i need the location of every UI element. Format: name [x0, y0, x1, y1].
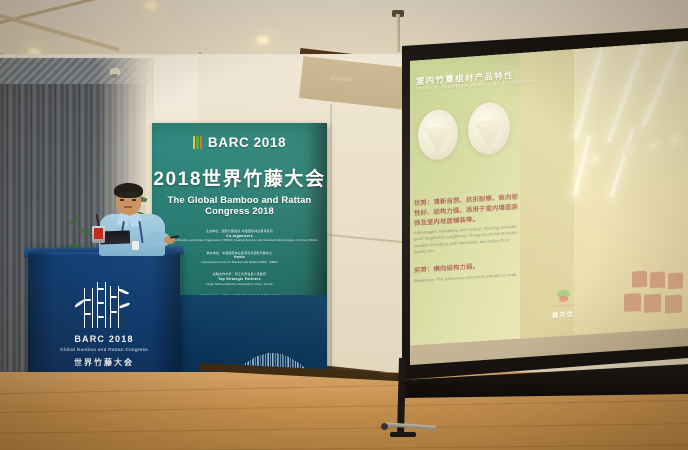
- projected-slide: 室内竹重组材产品特性 Indoor Bamboo Material Proper…: [402, 32, 688, 346]
- bamboo-stalks-icon: [78, 282, 130, 328]
- wall-panel-label: CHINA: [331, 75, 353, 83]
- screen-surface: 室内竹重组材产品特性 Indoor Bamboo Material Proper…: [388, 28, 688, 386]
- slide-advantages-cn: 优势：清新自然、抗折耐寒、板向韧性好、结构力强、适用于室内墙面装饰及室内地面铺装…: [414, 193, 520, 229]
- credit-cn: 主办单位：国际竹藤组织 中国国家林业和草原局: [152, 229, 327, 233]
- wall-seam: [330, 104, 332, 384]
- screen-tripod-knob: [381, 423, 388, 430]
- backdrop-logo: BARC 2018: [152, 135, 327, 150]
- slide-brand-logo: ZHIHUAYOU 植花优: [552, 289, 574, 319]
- ceiling-beam-corner: [0, 12, 120, 52]
- screen-foot: [390, 432, 416, 437]
- presenter-mouth: [124, 206, 132, 208]
- slide-brand-cn: 植花优: [552, 309, 574, 319]
- ceiling-downlight-icon: [143, 0, 159, 11]
- bamboo-stalks-icon: [193, 136, 204, 149]
- slide-advantages-en: Advantages: refreshing and natural, free…: [414, 224, 520, 255]
- conference-hall-photo: CHINA BAMBOO RATTAN BARC 2018: [0, 0, 688, 450]
- podium-logo-text: BARC 2018: [28, 334, 180, 344]
- microphone-flag: [94, 228, 103, 239]
- flower-logo-icon: [555, 289, 572, 303]
- podium-logo: BARC 2018 Global Bamboo and Rattan Congr…: [28, 282, 180, 368]
- presenter-hair: [114, 183, 143, 198]
- presenter-eye: [132, 199, 136, 201]
- slide-body: 优势：清新自然、抗折耐寒、板向韧性好、结构力强、适用于室内墙面装饰及室内地面铺装…: [414, 193, 520, 284]
- projection-screen-rig: 室内竹重组材产品特性 Indoor Bamboo Material Proper…: [388, 28, 688, 450]
- slide-auditorium-photo: [520, 32, 688, 339]
- podium-subtitle-en: Global Bamboo and Rattan Congress: [28, 347, 180, 352]
- presenter-badge: [132, 241, 139, 250]
- credit-en: International Bamboo and Rattan Organisa…: [152, 239, 327, 243]
- screen-tripod-bar: [384, 422, 436, 430]
- podium-subtitle-cn: 世界竹藤大会: [28, 357, 180, 368]
- ceiling-edge-trim: [0, 0, 138, 28]
- backdrop-title-cn: 2018世界竹藤大会: [152, 164, 327, 191]
- backdrop-logo-text: BARC 2018: [208, 135, 286, 150]
- backdrop-title-en: The Global Bamboo and Rattan Congress 20…: [152, 194, 327, 216]
- ceiling-downlight-icon: [255, 35, 271, 46]
- security-camera-icon: [110, 68, 120, 75]
- slide-brand-en: ZHIHUAYOU: [552, 303, 574, 308]
- presenter-eye: [120, 199, 124, 201]
